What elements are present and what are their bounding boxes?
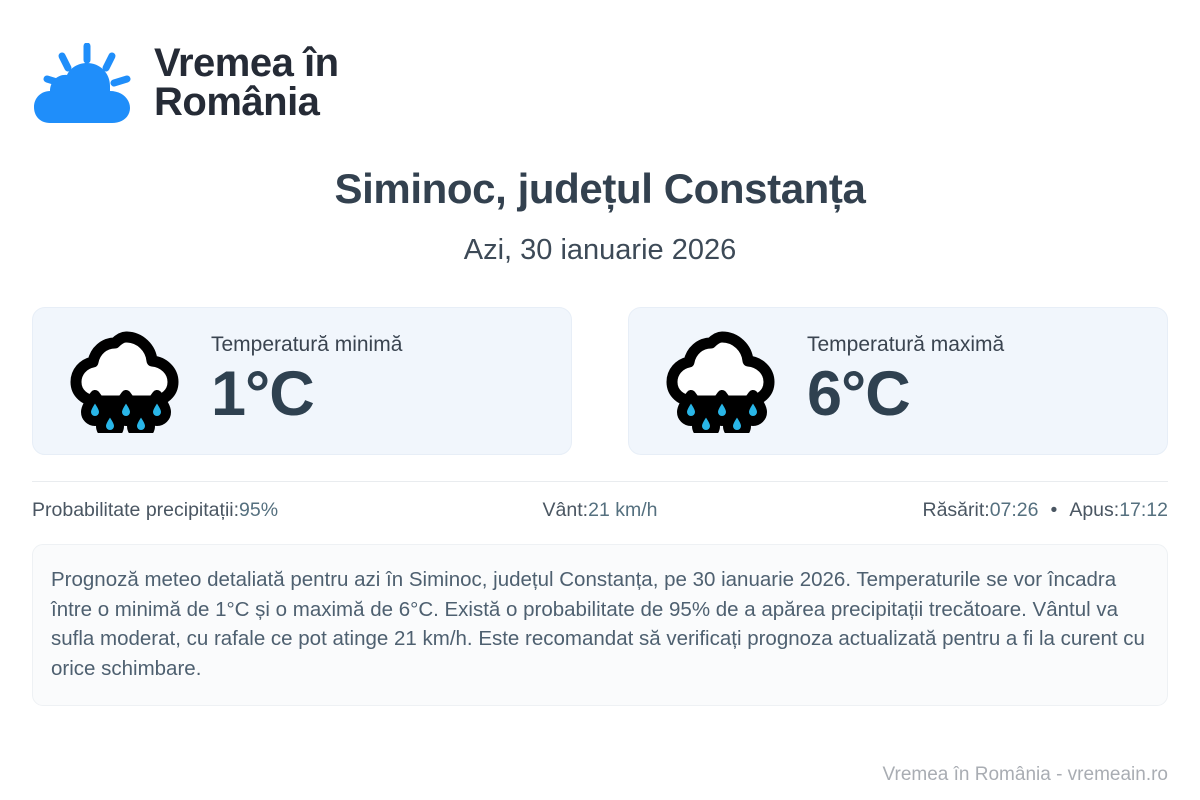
- separator-dot: •: [1051, 499, 1058, 522]
- sunset-value: 17:12: [1119, 499, 1168, 522]
- forecast-description: Prognoză meteo detaliată pentru azi în S…: [32, 544, 1168, 706]
- card-value: 6°C: [807, 360, 1004, 428]
- brand-name: Vremea în România: [154, 44, 339, 122]
- wind-value: 21 km/h: [588, 499, 657, 522]
- card-body: Temperatură minimă 1°C: [211, 333, 402, 430]
- sun-behind-cloud-icon: [32, 43, 136, 123]
- temperature-cards: Temperatură minimă 1°C Temperatură maxim…: [32, 307, 1168, 455]
- weather-page: Vremea în România Siminoc, județul Const…: [0, 0, 1200, 800]
- brand-header: Vremea în România: [32, 0, 1168, 118]
- precipitation-label: Probabilitate precipitații:: [32, 499, 239, 522]
- card-temperature-min: Temperatură minimă 1°C: [32, 307, 572, 455]
- stat-wind: Vânt: 21 km/h: [411, 499, 790, 522]
- card-label: Temperatură maximă: [807, 333, 1004, 356]
- card-body: Temperatură maximă 6°C: [807, 333, 1004, 430]
- footer-credit: Vremea în România - vremeain.ro: [883, 764, 1168, 786]
- stat-sun-times: Răsărit: 07:26 • Apus: 17:12: [789, 499, 1168, 522]
- page-subtitle: Azi, 30 ianuarie 2026: [32, 212, 1168, 267]
- card-temperature-max: Temperatură maximă 6°C: [628, 307, 1168, 455]
- card-value: 1°C: [211, 360, 402, 428]
- weather-stats-row: Probabilitate precipitații: 95% Vânt: 21…: [32, 481, 1168, 538]
- rain-cloud-icon: [67, 329, 185, 433]
- rain-cloud-icon: [663, 329, 781, 433]
- sunrise-label: Răsărit:: [923, 499, 990, 522]
- precipitation-value: 95%: [239, 499, 278, 522]
- stat-precipitation: Probabilitate precipitații: 95%: [32, 499, 411, 522]
- card-label: Temperatură minimă: [211, 333, 402, 356]
- page-title: Siminoc, județul Constanța: [32, 118, 1168, 212]
- wind-label: Vânt:: [543, 499, 589, 522]
- sunset-label: Apus:: [1069, 499, 1119, 522]
- sunrise-value: 07:26: [990, 499, 1039, 522]
